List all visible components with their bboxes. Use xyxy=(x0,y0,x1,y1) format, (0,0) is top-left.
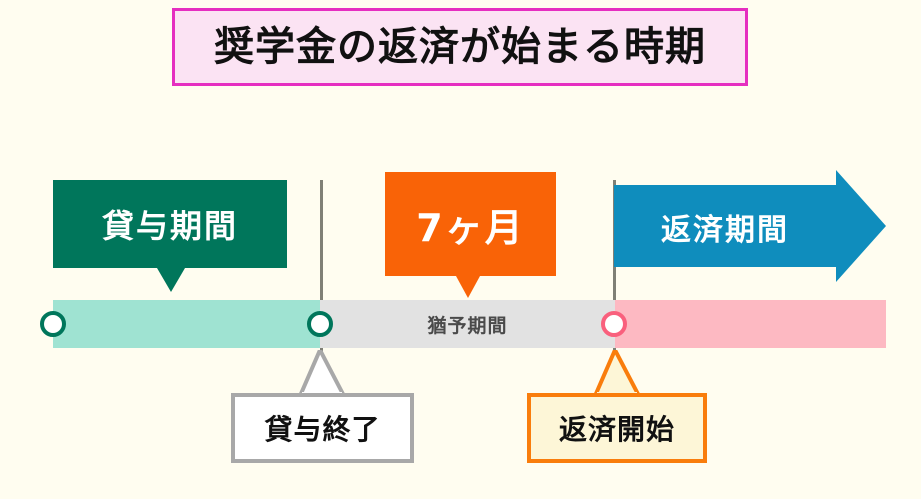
repayment-arrow-label-wrap: 返済期間 xyxy=(614,185,836,269)
callout-repayment-start-pointer xyxy=(587,350,647,396)
page-title: 奨学金の返済が始まる時期 xyxy=(214,27,706,67)
grace-period-label: 猶予期間 xyxy=(320,300,615,348)
bubble-grace-tail xyxy=(456,276,480,298)
bubble-lending-label: 貸与期間 xyxy=(102,201,238,247)
bubble-repayment-label: 返済期間 xyxy=(661,205,789,249)
callout-lending-end-pointer xyxy=(292,350,352,396)
marker-lending-end xyxy=(307,311,333,337)
callout-repayment-start: 返済開始 xyxy=(527,393,707,463)
bubble-grace-duration: 7ヶ月 xyxy=(385,172,556,276)
bubble-grace-label: 7ヶ月 xyxy=(416,197,524,252)
marker-repayment-start xyxy=(601,311,627,337)
marker-lending-start xyxy=(40,311,66,337)
bubble-lending-tail xyxy=(157,268,185,292)
infographic-canvas: 奨学金の返済が始まる時期 猶予期間 貸与期間 7ヶ月 返済期間 貸与終了 xyxy=(0,0,921,499)
callout-lending-end-label: 貸与終了 xyxy=(264,408,380,448)
callout-repayment-start-label: 返済開始 xyxy=(559,408,675,448)
bubble-lending-period: 貸与期間 xyxy=(53,180,287,268)
timeline-segment-lending xyxy=(53,300,320,348)
page-title-box: 奨学金の返済が始まる時期 xyxy=(172,8,748,86)
timeline-segment-repayment xyxy=(615,300,886,348)
callout-lending-end: 貸与終了 xyxy=(231,393,414,463)
